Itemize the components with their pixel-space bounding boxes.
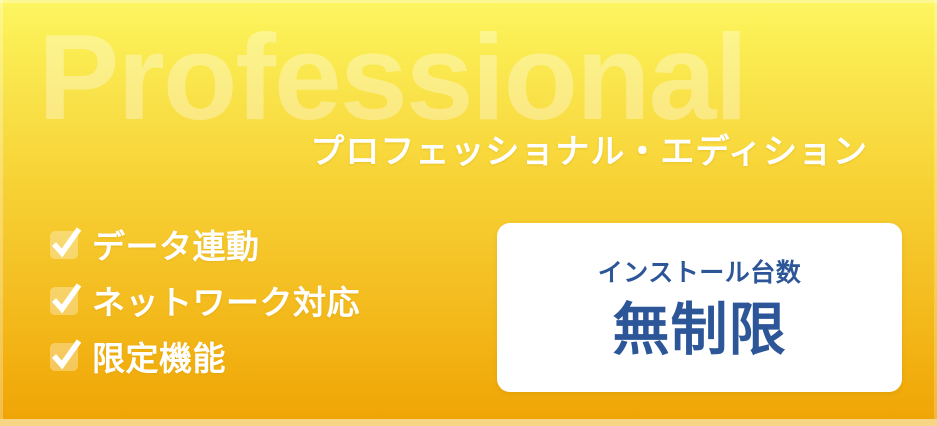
edition-subtitle: プロフェッショナル・エディション bbox=[310, 124, 868, 173]
install-count-label: インストール台数 bbox=[598, 261, 802, 286]
feature-item: 限定機能 bbox=[48, 328, 468, 384]
install-count-card: インストール台数 無制限 bbox=[497, 223, 902, 392]
feature-list: データ連動 ネットワーク対応 限定機能 bbox=[48, 216, 468, 384]
professional-edition-banner: Professional プロフェッショナル・エディション データ連動 ネットワ… bbox=[0, 0, 937, 426]
banner-left-edge-highlight bbox=[0, 0, 3, 426]
feature-item: データ連動 bbox=[48, 216, 468, 272]
watermark-text: Professional bbox=[38, 16, 746, 138]
banner-bottom-strip bbox=[0, 419, 937, 426]
install-count-value: 無制限 bbox=[613, 302, 787, 359]
feature-item-label: ネットワーク対応 bbox=[92, 276, 360, 324]
banner-top-edge-highlight bbox=[0, 0, 937, 3]
feature-item: ネットワーク対応 bbox=[48, 272, 468, 328]
feature-item-label: 限定機能 bbox=[92, 332, 226, 380]
checkbox-checked-icon bbox=[48, 283, 82, 317]
checkbox-checked-icon bbox=[48, 339, 82, 373]
feature-item-label: データ連動 bbox=[92, 220, 260, 268]
checkbox-checked-icon bbox=[48, 227, 82, 261]
